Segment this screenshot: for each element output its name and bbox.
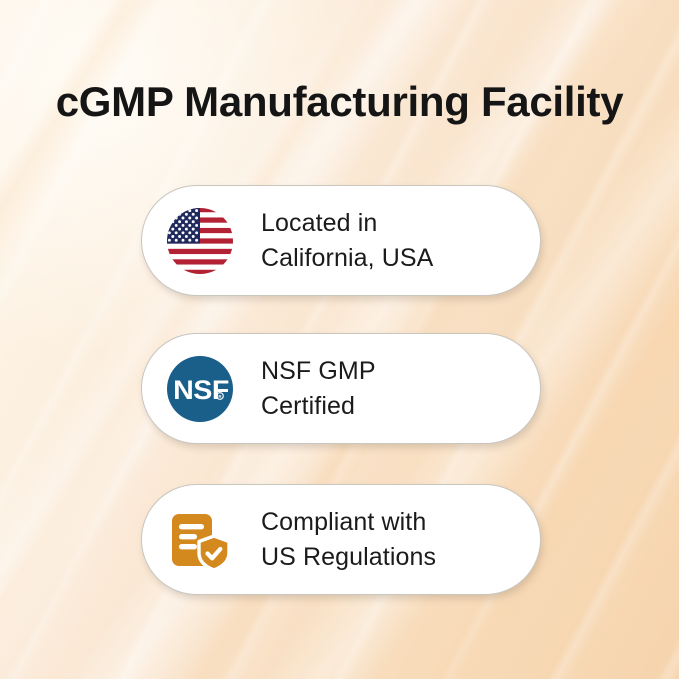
us-flag-svg [166,207,234,275]
card-line-2: US Regulations [261,540,436,575]
infographic-root: cGMP Manufacturing Facility [0,0,679,679]
card-line-1: Compliant with [261,508,426,536]
feature-card-nsf-gmp-certified: NSF R NSF GMP Certified [141,333,541,444]
feature-card-label: Compliant with US Regulations [261,505,436,574]
card-line-1: NSF GMP [261,357,376,385]
nsf-logo-svg: NSF R [166,355,234,423]
feature-card-label: Located in California, USA [261,206,433,275]
card-line-1: Located in [261,209,377,237]
feature-card-located-in-california: Located in California, USA [141,185,541,296]
background-glow [0,0,380,360]
feature-card-compliant-us-regulations: Compliant with US Regulations [141,484,541,595]
svg-text:NSF: NSF [173,374,229,404]
card-line-2: Certified [261,389,376,424]
us-flag-icon [164,205,236,277]
document-shield-check-icon [164,504,236,576]
page-title: cGMP Manufacturing Facility [0,78,679,126]
nsf-certified-icon: NSF R [164,353,236,425]
feature-card-label: NSF GMP Certified [261,354,376,423]
document-shield-check-svg [168,508,232,572]
card-line-2: California, USA [261,241,433,276]
